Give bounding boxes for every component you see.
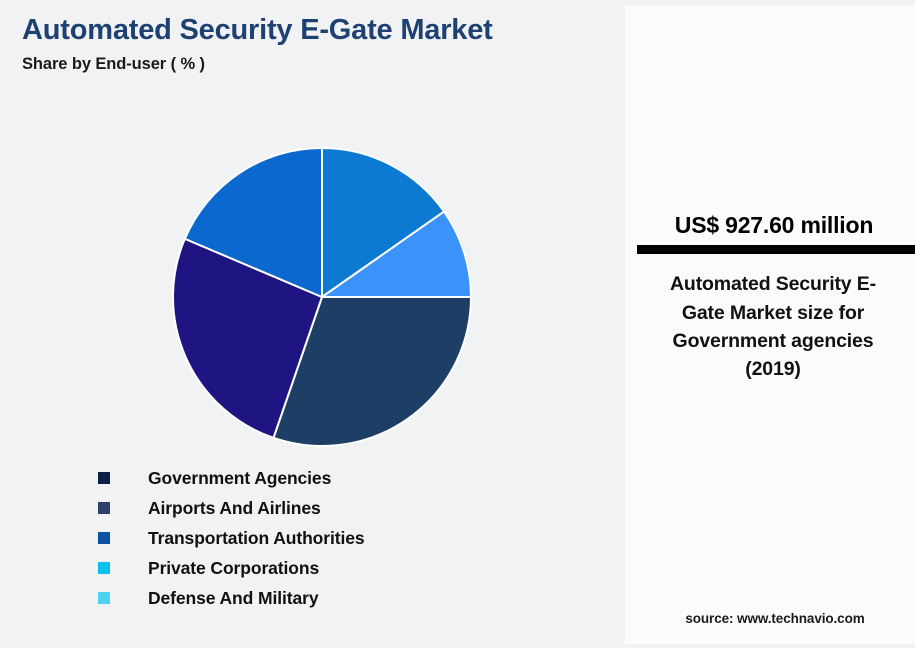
- header-block: Automated Security E-Gate Market Share b…: [22, 14, 610, 74]
- panel-divider: [637, 245, 915, 254]
- legend-item-label: Defense And Military: [148, 588, 318, 609]
- legend-item[interactable]: Airports And Airlines: [98, 493, 598, 523]
- infographic-root: Automated Security E-Gate Market Share b…: [0, 0, 915, 648]
- legend-item-label: Airports And Airlines: [148, 498, 321, 519]
- chart-legend: Government AgenciesAirports And Airlines…: [98, 463, 598, 613]
- panel-value: US$ 927.60 million: [625, 213, 915, 238]
- source-label: source: www.technavio.com: [625, 611, 915, 644]
- legend-swatch-icon: [98, 592, 110, 604]
- chart-area: Automated Security E-Gate Market Share b…: [0, 0, 620, 648]
- legend-item[interactable]: Defense And Military: [98, 583, 598, 613]
- legend-swatch-icon: [98, 472, 110, 484]
- legend-item[interactable]: Transportation Authorities: [98, 523, 598, 553]
- page-subtitle: Share by End-user ( % ): [22, 55, 610, 74]
- legend-item-label: Private Corporations: [148, 558, 319, 579]
- pie-chart: [172, 147, 472, 447]
- legend-swatch-icon: [98, 532, 110, 544]
- legend-item[interactable]: Government Agencies: [98, 463, 598, 493]
- legend-item-label: Transportation Authorities: [148, 528, 364, 549]
- legend-swatch-icon: [98, 502, 110, 514]
- panel-top-spacer: [625, 5, 915, 213]
- pie-chart-svg: [172, 147, 472, 447]
- page-title: Automated Security E-Gate Market: [22, 14, 610, 47]
- legend-swatch-icon: [98, 562, 110, 574]
- panel-caption: Automated Security E-Gate Market size fo…: [625, 270, 915, 383]
- legend-item-label: Government Agencies: [148, 468, 331, 489]
- panel-filler: [625, 383, 915, 611]
- legend-item[interactable]: Private Corporations: [98, 553, 598, 583]
- highlight-panel: US$ 927.60 million Automated Security E-…: [625, 5, 915, 644]
